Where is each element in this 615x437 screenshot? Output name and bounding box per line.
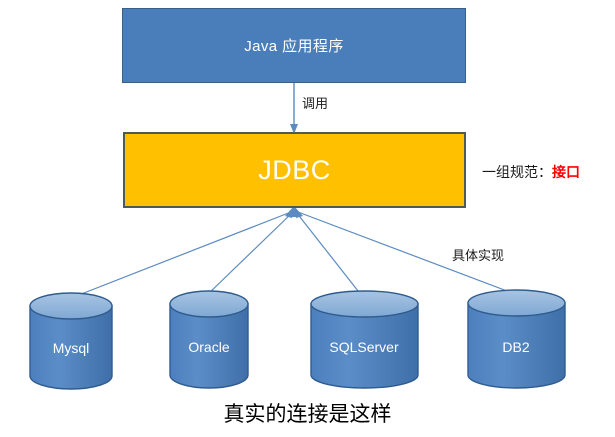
diagram-canvas: Java 应用程序 调用 JDBC 一组规范：接口 具体实现 Mysql Ora…	[0, 0, 615, 437]
spec-annotation-prefix: 一组规范：	[482, 165, 552, 181]
db-label-sqlserver: SQLServer	[329, 339, 398, 355]
call-arrow	[290, 83, 298, 134]
db-label-db2: DB2	[502, 339, 529, 355]
call-arrow-label: 调用	[302, 93, 328, 112]
diagram-caption: 真实的连接是这样	[0, 398, 615, 428]
java-application-label: Java 应用程序	[244, 35, 343, 56]
spec-annotation-highlight: 接口	[552, 165, 580, 181]
spec-annotation: 一组规范：接口	[482, 162, 580, 182]
jdbc-label: JDBC	[258, 155, 331, 186]
db-label-mysql: Mysql	[53, 340, 90, 356]
db-label-oracle: Oracle	[188, 339, 229, 355]
implementation-arrows	[66, 212, 515, 300]
implementation-label: 具体实现	[452, 245, 504, 264]
java-application-box: Java 应用程序	[122, 8, 466, 83]
jdbc-box: JDBC	[123, 132, 466, 208]
